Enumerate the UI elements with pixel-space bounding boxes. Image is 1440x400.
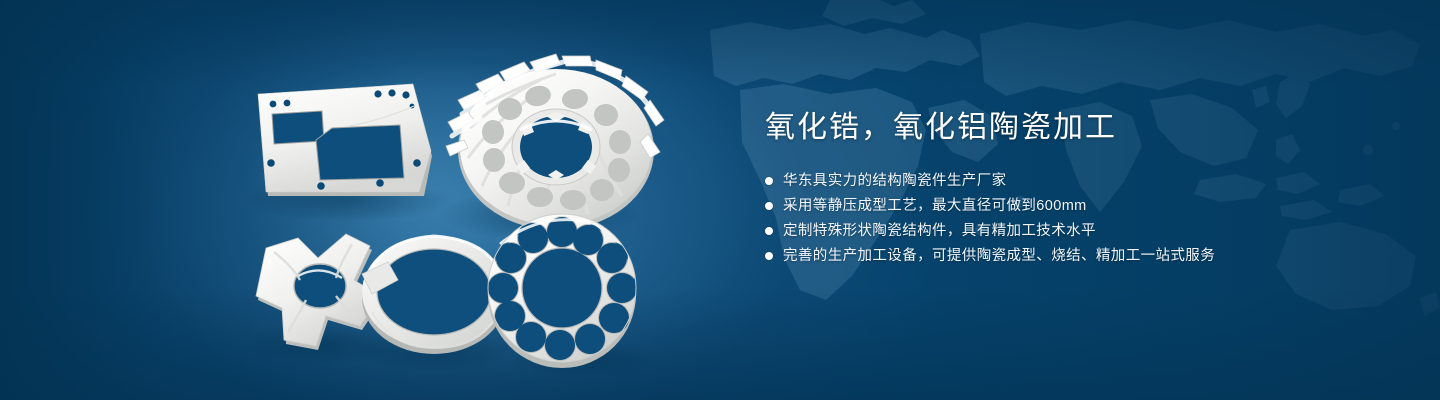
list-item: 采用等静压成型工艺，最大直径可做到600mm (765, 195, 1385, 217)
list-item: 定制特殊形状陶瓷结构件，具有精加工技术水平 (765, 220, 1385, 242)
list-item: 完善的生产加工设备，可提供陶瓷成型、烧结、精加工一站式服务 (765, 245, 1385, 267)
filled-circle-bullet-icon (765, 227, 773, 235)
list-item-label: 定制特殊形状陶瓷结构件，具有精加工技术水平 (783, 220, 1096, 242)
promo-banner: 氧化锆，氧化铝陶瓷加工 华东具实力的结构陶瓷件生产厂家 采用等静压成型工艺，最大… (0, 0, 1440, 400)
list-item-label: 完善的生产加工设备，可提供陶瓷成型、烧结、精加工一站式服务 (783, 245, 1215, 267)
ceramic-perforated-disc (488, 214, 637, 368)
product-photo-cluster (0, 0, 720, 400)
filled-circle-bullet-icon (765, 202, 773, 210)
banner-copy: 氧化锆，氧化铝陶瓷加工 华东具实力的结构陶瓷件生产厂家 采用等静压成型工艺，最大… (765, 108, 1385, 270)
list-item: 华东具实力的结构陶瓷件生产厂家 (765, 170, 1385, 192)
filled-circle-bullet-icon (765, 177, 773, 185)
list-item-label: 采用等静压成型工艺，最大直径可做到600mm (783, 195, 1087, 217)
ceramic-mounting-plate (258, 84, 432, 196)
ceramic-seal-ring (362, 236, 506, 354)
page-title: 氧化锆，氧化铝陶瓷加工 (765, 108, 1385, 148)
list-item-label: 华东具实力的结构陶瓷件生产厂家 (783, 170, 1007, 192)
feature-list: 华东具实力的结构陶瓷件生产厂家 采用等静压成型工艺，最大直径可做到600mm 定… (765, 170, 1385, 267)
filled-circle-bullet-icon (765, 252, 773, 260)
